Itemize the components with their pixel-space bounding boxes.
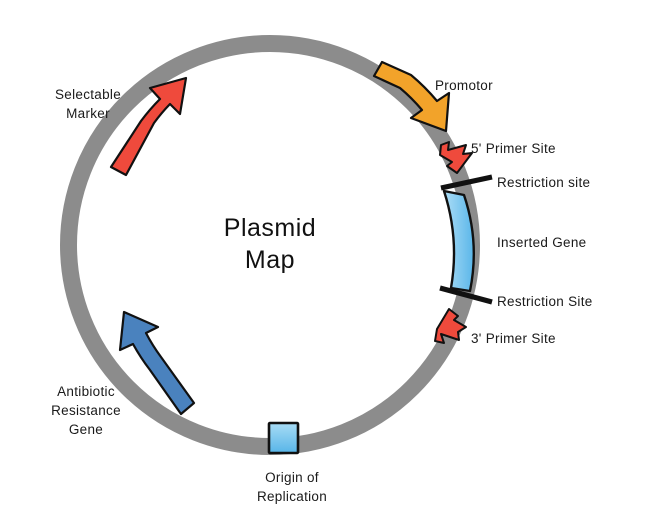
label-restriction-site-lower: Restriction Site <box>497 294 593 309</box>
label-selectable-marker-line1: Selectable <box>55 87 121 102</box>
label-origin-of-replication-line2: Replication <box>257 489 327 504</box>
feature-origin-of-replication[interactable] <box>269 423 298 453</box>
label-antibiotic-resistance-line2: Resistance <box>51 403 121 418</box>
label-antibiotic-resistance-line1: Antibiotic <box>57 384 115 399</box>
label-promoter: Promotor <box>435 78 493 93</box>
label-selectable-marker-line2: Marker <box>66 106 110 121</box>
origin-of-replication-square <box>269 423 298 453</box>
label-antibiotic-resistance-line3: Gene <box>69 422 103 437</box>
plasmid-map-canvas: Plasmid Map Selectable Marker Promotor 5… <box>0 0 650 519</box>
label-primer-5: 5' Primer Site <box>471 141 556 156</box>
label-restriction-site-upper: Restriction site <box>497 175 590 190</box>
label-primer-3: 3' Primer Site <box>471 331 556 346</box>
plasmid-map-diagram: Plasmid Map Selectable Marker Promotor 5… <box>0 0 650 519</box>
label-inserted-gene: Inserted Gene <box>497 235 586 250</box>
plasmid-map-title-line2: Map <box>245 246 295 274</box>
label-origin-of-replication-line1: Origin of <box>265 470 319 485</box>
plasmid-map-title-line1: Plasmid <box>224 214 316 242</box>
